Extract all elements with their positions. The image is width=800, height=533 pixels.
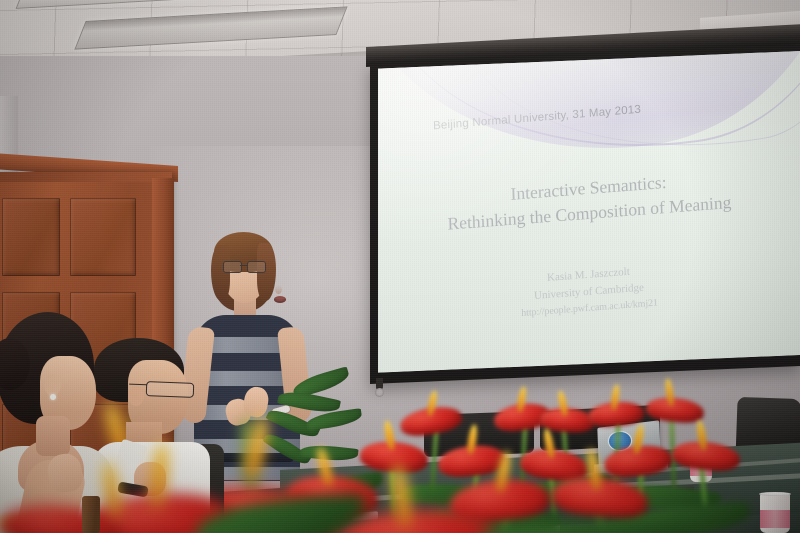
speaker-nose xyxy=(275,285,282,294)
glasses-bridge xyxy=(240,265,247,266)
speaker-glasses-icon xyxy=(222,261,267,271)
speaker-mouth xyxy=(274,296,286,303)
flower-bract xyxy=(645,395,705,425)
glasses-lens-left xyxy=(223,261,242,273)
man-ear xyxy=(128,386,144,406)
conference-room-photo: Media Beijing Normal University, 31 May … xyxy=(0,0,800,533)
speaker-hair-left xyxy=(211,245,230,301)
door-panel xyxy=(2,198,60,276)
woman-ear xyxy=(44,374,61,396)
man-glasses-icon xyxy=(146,381,194,398)
presentation-slide: Beijing Normal University, 31 May 2013 I… xyxy=(378,51,800,373)
woman-neck xyxy=(36,416,70,456)
slide-title: Interactive Semantics: Rethinking the Co… xyxy=(378,159,800,242)
projected-slide-area: Beijing Normal University, 31 May 2013 I… xyxy=(378,51,800,373)
door-panel xyxy=(70,198,136,276)
woman-earring xyxy=(50,394,56,400)
slide-author-block: Kasia M. Jaszczolt University of Cambrid… xyxy=(378,250,800,332)
bottle[interactable] xyxy=(82,496,100,533)
glasses-lens-right xyxy=(247,261,266,273)
projection-screen: Beijing Normal University, 31 May 2013 I… xyxy=(370,44,800,384)
